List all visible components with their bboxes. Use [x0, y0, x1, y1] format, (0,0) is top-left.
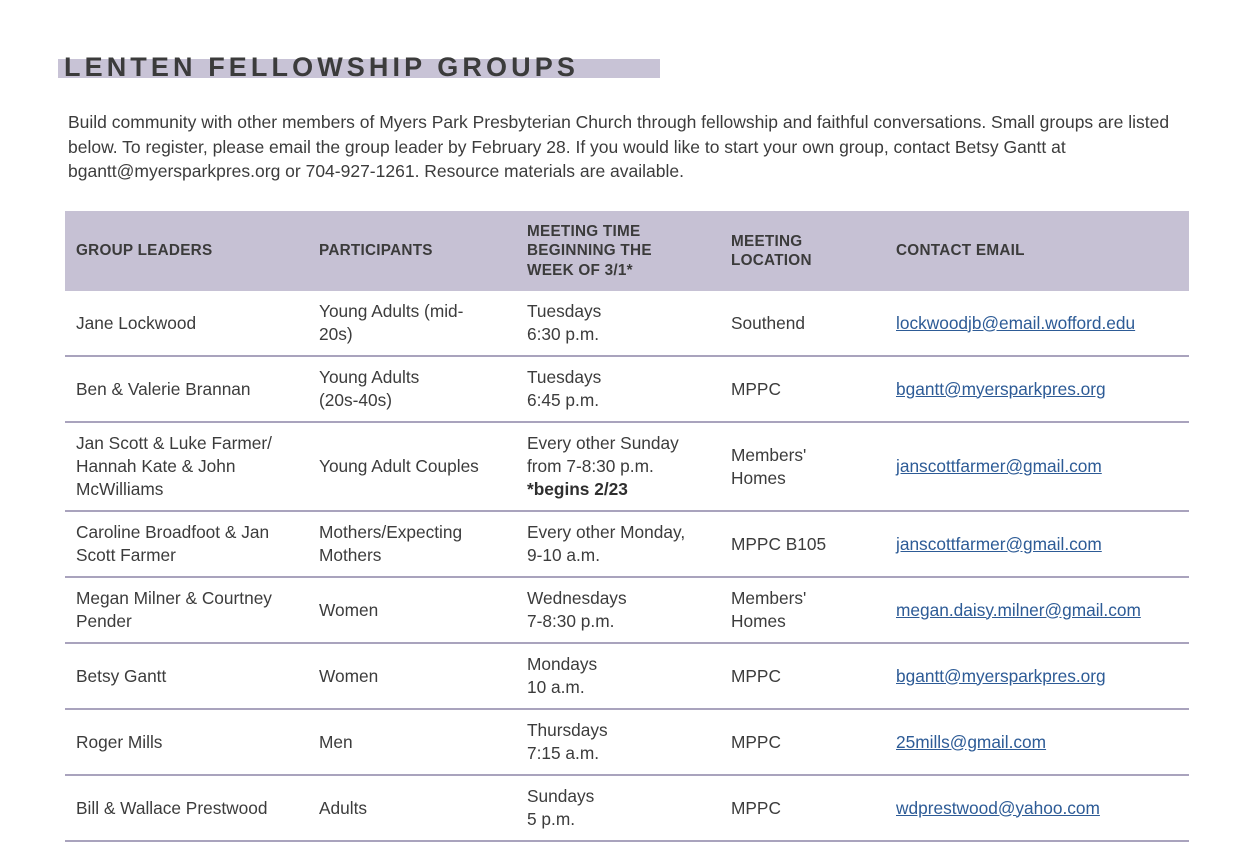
- cell-participants: Young Adults(20s-40s): [319, 357, 527, 421]
- cell-meeting-time: Sundays5 p.m.: [527, 776, 731, 840]
- meeting-location-line: Homes: [731, 467, 884, 490]
- meeting-time-line: 7-8:30 p.m.: [527, 610, 719, 633]
- meeting-time-line: Every other Sunday: [527, 432, 719, 455]
- meeting-location-line-1: MEETING: [731, 232, 884, 252]
- cell-meeting-time: Mondays10 a.m.: [527, 644, 731, 708]
- contact-email-link[interactable]: 25mills@gmail.com: [896, 732, 1046, 752]
- group-leaders-line: Caroline Broadfoot & Jan: [76, 521, 307, 544]
- meeting-location-line: Southend: [731, 312, 884, 335]
- participants-line: (20s-40s): [319, 389, 515, 412]
- group-leaders-line: Roger Mills: [76, 731, 307, 754]
- meeting-time-line: Wednesdays: [527, 587, 719, 610]
- cell-group-leaders: Roger Mills: [65, 722, 319, 763]
- group-leaders-line: Jan Scott & Luke Farmer/: [76, 432, 307, 455]
- meeting-time-line: 6:45 p.m.: [527, 389, 719, 412]
- table-row: Bill & Wallace PrestwoodAdultsSundays5 p…: [65, 776, 1189, 842]
- meeting-time-line: Mondays: [527, 653, 719, 676]
- contact-email-link[interactable]: bgantt@myersparkpres.org: [896, 379, 1106, 399]
- cell-meeting-time: Every other Sundayfrom 7-8:30 p.m.*begin…: [527, 423, 731, 510]
- contact-email-link[interactable]: megan.daisy.milner@gmail.com: [896, 600, 1141, 620]
- participants-line: 20s): [319, 323, 515, 346]
- cell-meeting-location: MPPC: [731, 369, 896, 410]
- meeting-location-line: MPPC: [731, 378, 884, 401]
- cell-meeting-location: MPPC B105: [731, 524, 896, 565]
- meeting-time-line: Sundays: [527, 785, 719, 808]
- table-row: Caroline Broadfoot & JanScott FarmerMoth…: [65, 512, 1189, 578]
- meeting-time-line: 5 p.m.: [527, 808, 719, 831]
- meeting-time-line: 9-10 a.m.: [527, 544, 719, 567]
- group-leaders-line: Hannah Kate & John: [76, 455, 307, 478]
- participants-line: Young Adult Couples: [319, 455, 515, 478]
- cell-contact-email: lockwoodjb@email.wofford.edu: [896, 303, 1189, 344]
- cell-group-leaders: Jan Scott & Luke Farmer/Hannah Kate & Jo…: [65, 423, 319, 510]
- contact-email-link[interactable]: janscottfarmer@gmail.com: [896, 534, 1102, 554]
- contact-email-link[interactable]: janscottfarmer@gmail.com: [896, 456, 1102, 476]
- participants-line: Adults: [319, 797, 515, 820]
- cell-participants: Women: [319, 590, 527, 631]
- column-header-group-leaders: GROUP LEADERS: [65, 241, 319, 261]
- intro-paragraph: Build community with other members of My…: [68, 110, 1183, 184]
- column-header-contact-email: CONTACT EMAIL: [896, 241, 1189, 261]
- meeting-time-line-1: MEETING TIME: [527, 222, 719, 242]
- cell-participants: Men: [319, 722, 527, 763]
- cell-meeting-time: Tuesdays6:30 p.m.: [527, 291, 731, 355]
- meeting-time-line-3: WEEK OF 3/1*: [527, 261, 719, 281]
- participants-line: Mothers: [319, 544, 515, 567]
- group-leaders-line: Betsy Gantt: [76, 665, 307, 688]
- contact-email-link[interactable]: lockwoodjb@email.wofford.edu: [896, 313, 1135, 333]
- meeting-time-note: *begins 2/23: [527, 478, 719, 501]
- cell-participants: Adults: [319, 788, 527, 829]
- meeting-time-line: 7:15 a.m.: [527, 742, 719, 765]
- group-leaders-line: McWilliams: [76, 478, 307, 501]
- cell-group-leaders: Megan Milner & CourtneyPender: [65, 578, 319, 642]
- flyer-page: LENTEN FELLOWSHIP GROUPS Build community…: [0, 0, 1248, 801]
- cell-meeting-location: MPPC: [731, 722, 896, 763]
- table-body: Jane LockwoodYoung Adults (mid-20s)Tuesd…: [65, 291, 1189, 842]
- meeting-time-line: Tuesdays: [527, 300, 719, 323]
- cell-contact-email: janscottfarmer@gmail.com: [896, 446, 1189, 487]
- cell-participants: Women: [319, 656, 527, 697]
- meeting-location-line: MPPC: [731, 797, 884, 820]
- meeting-time-line-2: BEGINNING THE: [527, 241, 719, 261]
- participants-line: Young Adults: [319, 366, 515, 389]
- group-leaders-line: Bill & Wallace Prestwood: [76, 797, 307, 820]
- group-leaders-line: Jane Lockwood: [76, 312, 307, 335]
- cell-contact-email: 25mills@gmail.com: [896, 722, 1189, 763]
- meeting-location-line-2: LOCATION: [731, 251, 884, 271]
- meeting-location-line: MPPC: [731, 731, 884, 754]
- column-header-meeting-location: MEETING LOCATION: [731, 232, 896, 271]
- table-row: Betsy GanttWomenMondays10 a.m.MPPCbgantt…: [65, 644, 1189, 710]
- cell-meeting-location: Members'Homes: [731, 578, 896, 642]
- group-leaders-line: Ben & Valerie Brannan: [76, 378, 307, 401]
- page-title-text: LENTEN FELLOWSHIP GROUPS: [64, 48, 579, 86]
- group-leaders-line: Scott Farmer: [76, 544, 307, 567]
- cell-group-leaders: Jane Lockwood: [65, 303, 319, 344]
- cell-meeting-location: Southend: [731, 303, 896, 344]
- cell-meeting-time: Thursdays7:15 a.m.: [527, 710, 731, 774]
- cell-participants: Young Adults (mid-20s): [319, 291, 527, 355]
- table-row: Megan Milner & CourtneyPenderWomenWednes…: [65, 578, 1189, 644]
- column-header-meeting-time: MEETING TIME BEGINNING THE WEEK OF 3/1*: [527, 222, 731, 281]
- cell-meeting-time: Tuesdays6:45 p.m.: [527, 357, 731, 421]
- cell-participants: Young Adult Couples: [319, 446, 527, 487]
- meeting-location-line: Members': [731, 444, 884, 467]
- cell-meeting-location: MPPC: [731, 788, 896, 829]
- column-header-participants: PARTICIPANTS: [319, 241, 527, 261]
- fellowship-groups-table: GROUP LEADERS PARTICIPANTS MEETING TIME …: [65, 211, 1189, 842]
- cell-meeting-time: Wednesdays7-8:30 p.m.: [527, 578, 731, 642]
- table-row: Ben & Valerie BrannanYoung Adults(20s-40…: [65, 357, 1189, 423]
- meeting-time-line: 6:30 p.m.: [527, 323, 719, 346]
- cell-meeting-location: Members'Homes: [731, 435, 896, 499]
- meeting-time-line: Every other Monday,: [527, 521, 719, 544]
- cell-group-leaders: Betsy Gantt: [65, 656, 319, 697]
- cell-meeting-time: Every other Monday,9-10 a.m.: [527, 512, 731, 576]
- participants-line: Young Adults (mid-: [319, 300, 515, 323]
- cell-contact-email: wdprestwood@yahoo.com: [896, 788, 1189, 829]
- cell-contact-email: janscottfarmer@gmail.com: [896, 524, 1189, 565]
- participants-line: Women: [319, 665, 515, 688]
- meeting-location-line: MPPC: [731, 665, 884, 688]
- cell-group-leaders: Bill & Wallace Prestwood: [65, 788, 319, 829]
- meeting-location-line: MPPC B105: [731, 533, 884, 556]
- table-row: Jane LockwoodYoung Adults (mid-20s)Tuesd…: [65, 291, 1189, 357]
- meeting-time-line: 10 a.m.: [527, 676, 719, 699]
- page-title: LENTEN FELLOWSHIP GROUPS: [58, 48, 758, 88]
- cell-meeting-location: MPPC: [731, 656, 896, 697]
- meeting-location-line: Homes: [731, 610, 884, 633]
- cell-group-leaders: Caroline Broadfoot & JanScott Farmer: [65, 512, 319, 576]
- table-header-row: GROUP LEADERS PARTICIPANTS MEETING TIME …: [65, 211, 1189, 291]
- participants-line: Women: [319, 599, 515, 622]
- participants-line: Mothers/Expecting: [319, 521, 515, 544]
- cell-contact-email: bgantt@myersparkpres.org: [896, 369, 1189, 410]
- contact-email-link[interactable]: bgantt@myersparkpres.org: [896, 666, 1106, 686]
- group-leaders-line: Pender: [76, 610, 307, 633]
- meeting-time-line: from 7-8:30 p.m.: [527, 455, 719, 478]
- cell-contact-email: bgantt@myersparkpres.org: [896, 656, 1189, 697]
- cell-contact-email: megan.daisy.milner@gmail.com: [896, 590, 1189, 631]
- table-row: Jan Scott & Luke Farmer/Hannah Kate & Jo…: [65, 423, 1189, 512]
- group-leaders-line: Megan Milner & Courtney: [76, 587, 307, 610]
- cell-group-leaders: Ben & Valerie Brannan: [65, 369, 319, 410]
- table-row: Roger MillsMenThursdays7:15 a.m.MPPC25mi…: [65, 710, 1189, 776]
- meeting-location-line: Members': [731, 587, 884, 610]
- meeting-time-line: Tuesdays: [527, 366, 719, 389]
- meeting-time-line: Thursdays: [527, 719, 719, 742]
- cell-participants: Mothers/ExpectingMothers: [319, 512, 527, 576]
- participants-line: Men: [319, 731, 515, 754]
